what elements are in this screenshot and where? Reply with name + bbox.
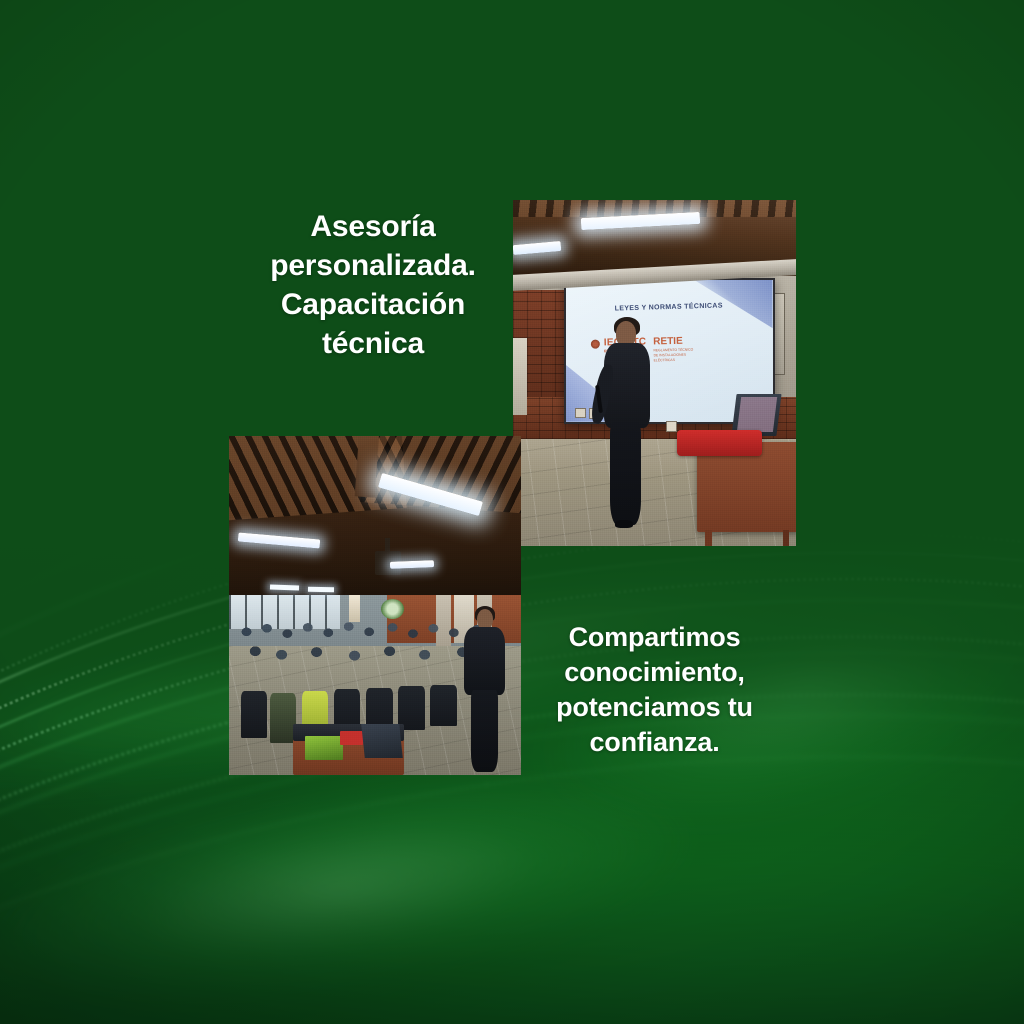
photo-audience: [229, 436, 521, 775]
photo-presenter: LEYES Y NORMAS TÉCNICAS IEC 60364 NTC 20…: [513, 200, 796, 546]
caption-bottom: Compartimos conocimiento, potenciamos tu…: [518, 620, 791, 760]
photo-audience-grain: [229, 436, 521, 775]
photo-presenter-grain: [513, 200, 796, 546]
poster-canvas: LEYES Y NORMAS TÉCNICAS IEC 60364 NTC 20…: [0, 0, 1024, 1024]
caption-top: Asesoría personalizada. Capacitación téc…: [238, 207, 508, 363]
